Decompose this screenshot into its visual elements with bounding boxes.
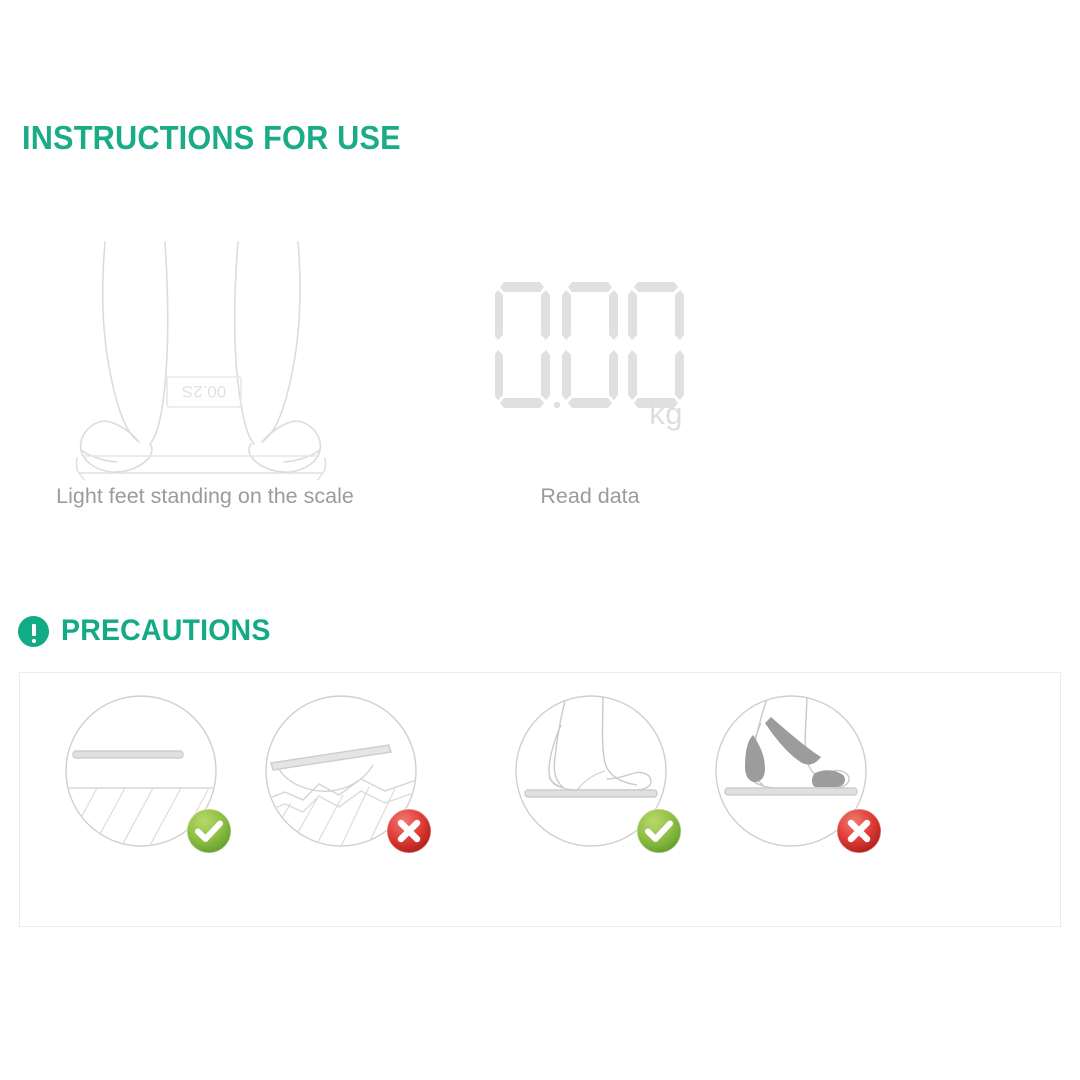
instruction-step-stand-on-scale: 00.2S Light feet standing on the scale xyxy=(30,232,380,542)
feet-on-scale-illustration: 00.2S xyxy=(30,232,380,480)
instruction-step-caption: Light feet standing on the scale xyxy=(30,484,380,509)
lcd-readout: kg xyxy=(495,278,685,438)
check-circle-icon xyxy=(185,807,233,855)
page-title-instructions: INSTRUCTIONS FOR USE xyxy=(22,119,401,157)
cross-circle-icon xyxy=(385,807,433,855)
precaution-item xyxy=(261,691,431,861)
instruction-steps-row: 00.2S Light feet standing on the scale xyxy=(0,232,1080,542)
precautions-heading-group: PRECAUTIONS xyxy=(18,614,282,648)
instruction-step-caption: Read data xyxy=(430,484,750,509)
precaution-item xyxy=(61,691,231,861)
page-title-precautions: PRECAUTIONS xyxy=(61,614,271,648)
lcd-digit-2 xyxy=(562,282,618,408)
instruction-step-read-data: kg Read data xyxy=(430,232,750,542)
scale-display-value: 00.2S xyxy=(182,382,226,401)
exclamation-circle-icon xyxy=(18,616,49,647)
cross-circle-icon xyxy=(835,807,883,855)
lcd-unit-label: kg xyxy=(649,396,683,432)
precaution-items-row xyxy=(20,673,1060,926)
lcd-digit-3 xyxy=(628,282,684,408)
lcd-display-illustration: kg xyxy=(430,232,750,480)
lcd-decimal-point xyxy=(554,402,560,408)
check-circle-icon xyxy=(635,807,683,855)
precautions-panel xyxy=(19,672,1061,927)
precaution-item xyxy=(711,691,881,861)
lcd-digit-1 xyxy=(495,282,550,408)
precaution-item xyxy=(511,691,681,861)
